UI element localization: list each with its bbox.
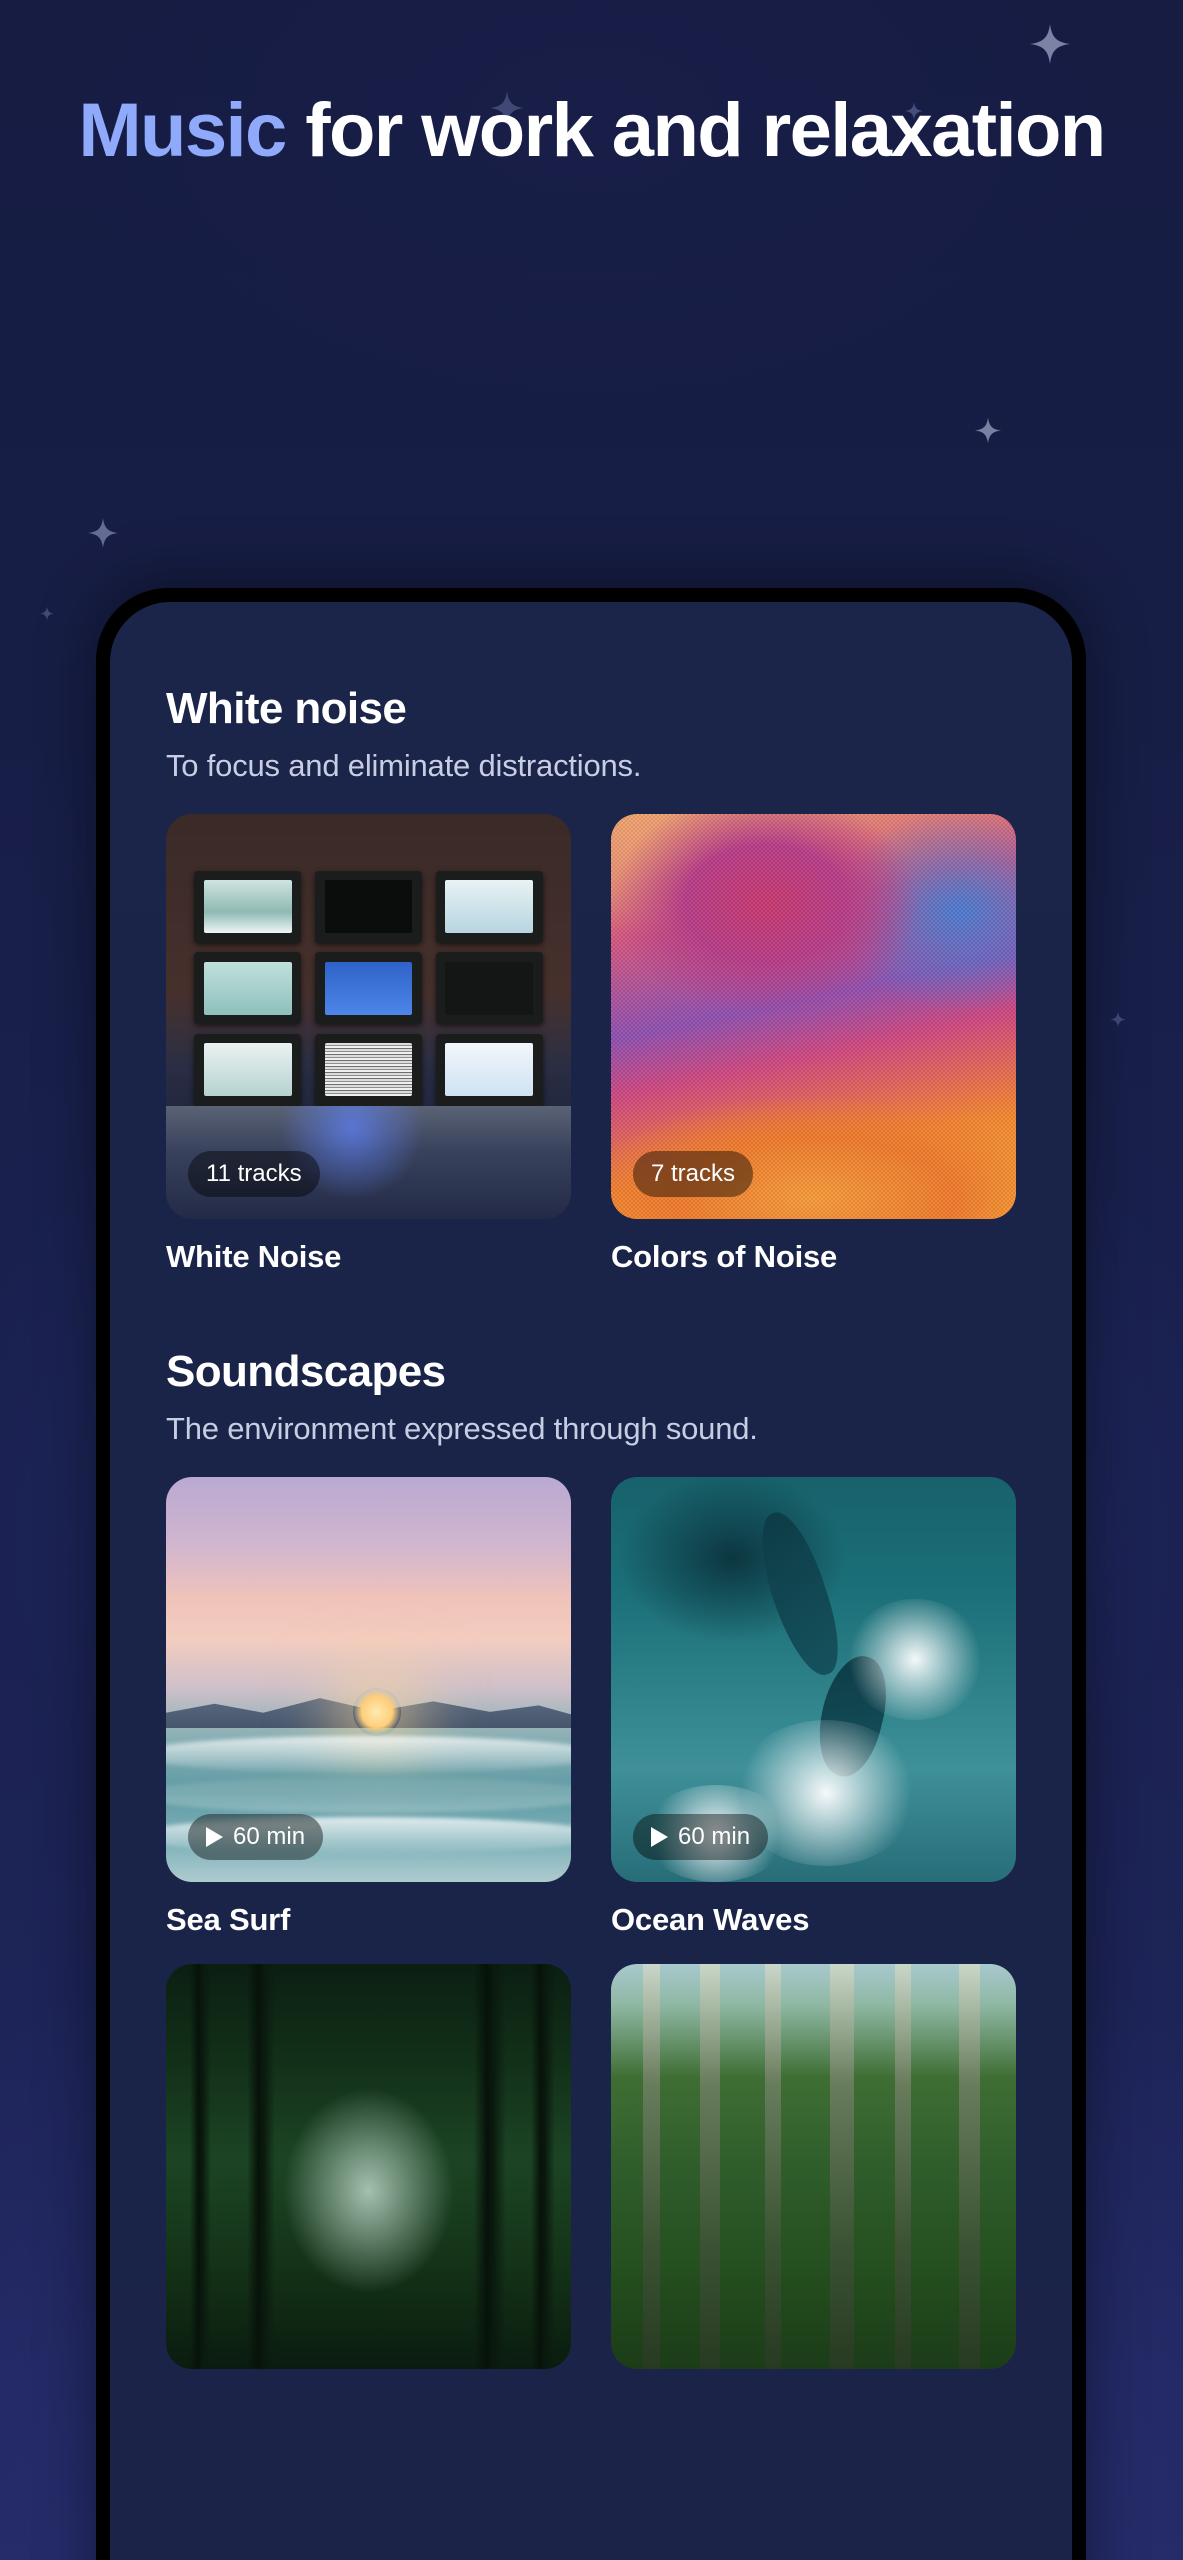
sparkle-icon (975, 415, 1001, 446)
badge-label: 60 min (233, 1823, 305, 1851)
play-icon (206, 1827, 223, 1847)
card-grid: 11 tracks White Noise 7 tracks Colors (166, 814, 1016, 1275)
badge-label: 60 min (678, 1823, 750, 1851)
card-grid: 60 min Sea Surf (166, 1477, 1016, 2369)
phone-screen: White noise To focus and eliminate distr… (110, 602, 1072, 2560)
card-thumbnail[interactable] (611, 1964, 1016, 2369)
card-thumbnail[interactable]: 60 min (611, 1477, 1016, 1882)
card-thumbnail[interactable] (166, 1964, 571, 2369)
sparkle-icon (1110, 1010, 1126, 1029)
section-white-noise: White noise To focus and eliminate distr… (110, 684, 1072, 1275)
section-soundscapes: Soundscapes The environment expressed th… (110, 1347, 1072, 2369)
duration-badge: 60 min (633, 1814, 768, 1860)
page-title-accent: Music (78, 88, 285, 173)
card-thumbnail[interactable]: 11 tracks (166, 814, 571, 1219)
tracks-badge: 7 tracks (633, 1151, 753, 1197)
sparkle-icon (1030, 20, 1070, 68)
card-colors-of-noise[interactable]: 7 tracks Colors of Noise (611, 814, 1016, 1275)
card-title: Ocean Waves (611, 1902, 1016, 1938)
card-title: Colors of Noise (611, 1239, 1016, 1275)
sparkle-icon (88, 515, 118, 551)
app-content: White noise To focus and eliminate distr… (110, 602, 1072, 2560)
card-forest-dark[interactable] (166, 1964, 571, 2369)
card-thumbnail[interactable]: 7 tracks (611, 814, 1016, 1219)
artwork-tall-trees (611, 1964, 1016, 2369)
card-sea-surf[interactable]: 60 min Sea Surf (166, 1477, 571, 1938)
page-title: Music for work and relaxation (0, 88, 1183, 174)
badge-label: 7 tracks (651, 1160, 735, 1188)
phone-mockup: White noise To focus and eliminate distr… (96, 588, 1086, 2560)
card-white-noise[interactable]: 11 tracks White Noise (166, 814, 571, 1275)
play-icon (651, 1827, 668, 1847)
duration-badge: 60 min (188, 1814, 323, 1860)
card-forest-light[interactable] (611, 1964, 1016, 2369)
card-title: White Noise (166, 1239, 571, 1275)
section-title: White noise (166, 684, 1016, 734)
tracks-badge: 11 tracks (188, 1151, 320, 1197)
badge-label: 11 tracks (206, 1160, 302, 1188)
sparkle-icon (40, 605, 54, 622)
artwork-forest-path (166, 1964, 571, 2369)
card-title: Sea Surf (166, 1902, 571, 1938)
section-subtitle: The environment expressed through sound. (166, 1411, 1016, 1447)
card-thumbnail[interactable]: 60 min (166, 1477, 571, 1882)
section-title: Soundscapes (166, 1347, 1016, 1397)
card-ocean-waves[interactable]: 60 min Ocean Waves (611, 1477, 1016, 1938)
section-subtitle: To focus and eliminate distractions. (166, 748, 1016, 784)
page-title-rest: for work and relaxation (286, 88, 1105, 173)
